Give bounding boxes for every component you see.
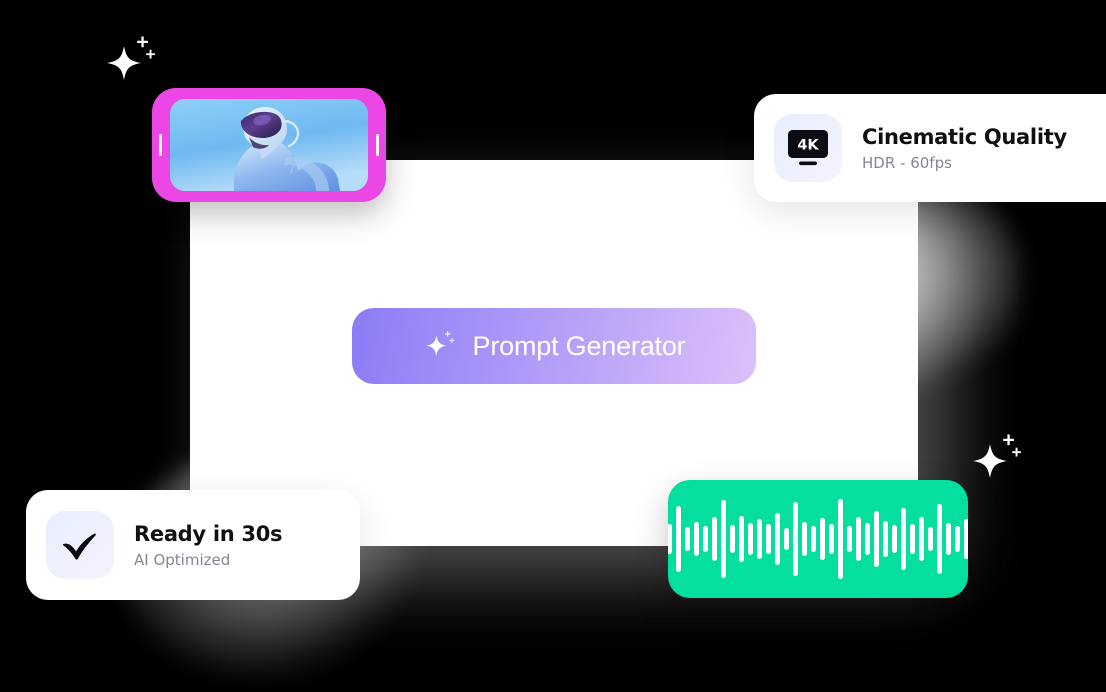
waveform-bar xyxy=(739,516,744,562)
waveform-bar xyxy=(901,508,906,570)
waveform-bar xyxy=(865,523,870,555)
waveform-bar xyxy=(721,500,726,578)
waveform-bar xyxy=(946,523,951,555)
scene-stage: Prompt Generator 4K Cinematic Quality HD… xyxy=(0,0,1106,692)
cinematic-card-text: Cinematic Quality HDR - 60fps xyxy=(862,125,1067,172)
waveform-bar xyxy=(668,524,672,554)
waveform-bar xyxy=(784,528,789,550)
phone-volume-button[interactable] xyxy=(159,134,162,156)
waveform-bar xyxy=(703,526,708,552)
waveform-bar xyxy=(892,525,897,553)
sparkle-decoration-bottom-right xyxy=(966,428,1028,490)
ready-card-title: Ready in 30s xyxy=(134,522,282,546)
waveform-bar xyxy=(838,499,843,579)
sparkle-icon xyxy=(423,329,457,363)
phone-mockup[interactable] xyxy=(152,88,386,202)
waveform-bar xyxy=(955,526,960,552)
cinematic-card-subtitle: HDR - 60fps xyxy=(862,154,1067,172)
prompt-generator-button[interactable]: Prompt Generator xyxy=(352,308,756,384)
waveform-bar xyxy=(694,522,699,556)
ready-status-card[interactable]: Ready in 30s AI Optimized xyxy=(26,490,360,600)
ready-card-text: Ready in 30s AI Optimized xyxy=(134,522,282,569)
waveform-bar xyxy=(919,517,924,561)
waveform-bar xyxy=(793,502,798,576)
cinematic-card-title: Cinematic Quality xyxy=(862,125,1067,149)
checkmark-icon xyxy=(58,523,102,567)
phone-power-button[interactable] xyxy=(376,134,379,156)
4k-icon-container: 4K xyxy=(774,114,842,182)
waveform-bar xyxy=(847,526,852,552)
waveform-bar xyxy=(883,521,888,557)
waveform-bar xyxy=(829,524,834,554)
cinematic-quality-card[interactable]: 4K Cinematic Quality HDR - 60fps xyxy=(754,94,1106,202)
waveform-bar xyxy=(964,519,968,559)
prompt-generator-label: Prompt Generator xyxy=(473,331,686,362)
ready-card-subtitle: AI Optimized xyxy=(134,551,282,569)
waveform-bar xyxy=(748,523,753,555)
waveform-bar xyxy=(910,524,915,554)
waveform-bar xyxy=(820,518,825,560)
4k-monitor-icon: 4K xyxy=(787,129,829,167)
waveform-bar xyxy=(811,526,816,552)
waveform-bar xyxy=(802,522,807,556)
waveform-bar xyxy=(766,524,771,554)
waveform-bars xyxy=(668,497,968,581)
waveform-bar xyxy=(874,511,879,567)
check-icon-container xyxy=(46,511,114,579)
waveform-bar xyxy=(856,517,861,561)
waveform-bar xyxy=(937,504,942,574)
waveform-bar xyxy=(676,506,681,572)
svg-text:4K: 4K xyxy=(797,137,819,153)
waveform-bar xyxy=(757,519,762,559)
waveform-bar xyxy=(712,517,717,561)
waveform-bar xyxy=(730,525,735,553)
waveform-bar xyxy=(775,513,780,565)
sparkle-decoration-top-left xyxy=(100,30,162,92)
waveform-bar xyxy=(928,527,933,551)
waveform-bar xyxy=(685,527,690,551)
audio-waveform-card[interactable] xyxy=(668,480,968,598)
phone-screen xyxy=(170,99,368,191)
